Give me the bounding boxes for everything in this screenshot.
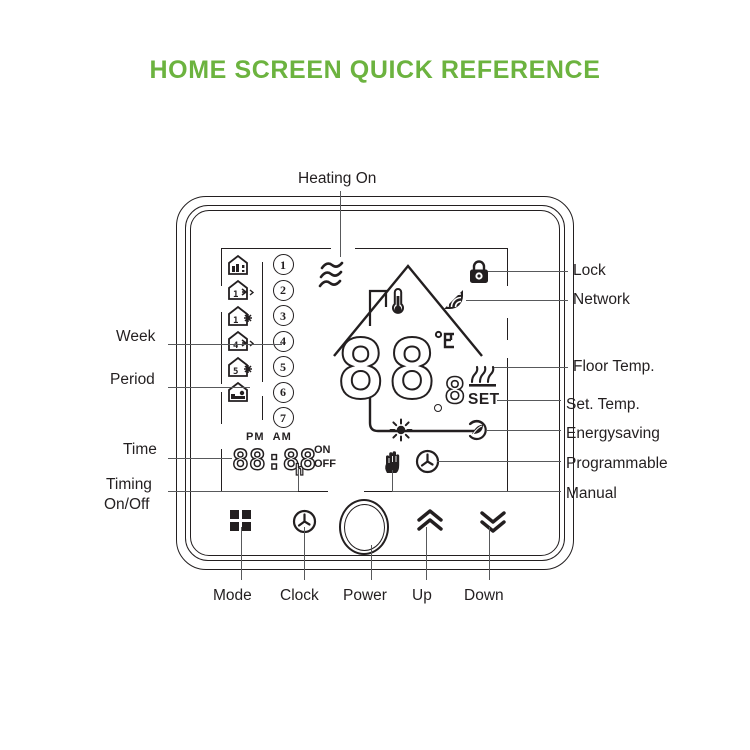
temperature-decimal-point	[434, 404, 442, 412]
week-number-item: 1	[268, 252, 298, 278]
hour-unit-label: h	[295, 461, 304, 479]
callout-line-timing	[168, 491, 298, 492]
callout-label-timing-1: Timing	[106, 476, 152, 494]
button-row	[176, 497, 572, 555]
meridiem-indicators: PM AM	[246, 431, 292, 443]
week-number-7: 7	[273, 407, 294, 428]
svg-text:1: 1	[233, 290, 238, 300]
callout-line-clock	[304, 527, 305, 580]
callout-line-manual-v	[392, 470, 393, 492]
callout-line-week	[168, 344, 282, 345]
period-bracket-lower	[262, 396, 263, 420]
period-bracket	[262, 262, 263, 382]
week-number-1: 1	[273, 254, 294, 275]
callout-label-heating-on: Heating On	[298, 170, 376, 188]
callout-line-down	[489, 527, 490, 580]
lcd-bracket-left-mid	[221, 312, 222, 384]
week-number-item: 4	[268, 329, 298, 355]
week-number-6: 6	[273, 382, 294, 403]
week-number-column: 1 2 3 4 5 6 7	[268, 252, 298, 431]
period-icon-1	[226, 252, 260, 278]
up-button[interactable]	[416, 508, 444, 534]
page-title: HOME SCREEN QUICK REFERENCE	[0, 56, 750, 85]
lcd-bracket-left-bottom	[221, 449, 222, 491]
svg-text:5: 5	[233, 367, 238, 377]
callout-label-network: Network	[573, 291, 630, 309]
set-temp-label: SET	[468, 391, 500, 409]
lcd-bracket-right-mid2	[507, 358, 508, 492]
week-number-3: 3	[273, 305, 294, 326]
week-number-item: 3	[268, 303, 298, 329]
button-label-mode: Mode	[213, 587, 252, 605]
pm-label: PM	[246, 431, 265, 443]
lcd-bracket-right-mid1	[507, 318, 508, 340]
callout-label-programmable: Programmable	[566, 455, 668, 473]
button-label-down: Down	[464, 587, 504, 605]
callout-line-energysaving	[487, 430, 561, 431]
callout-line-up	[426, 527, 427, 580]
period-icon-6-sleep	[226, 380, 260, 406]
lcd-bracket-right-upper	[507, 248, 508, 286]
power-button[interactable]	[339, 499, 389, 555]
floor-heating-icon	[467, 366, 497, 390]
callout-line-mode	[241, 527, 242, 580]
callout-line-power	[371, 545, 372, 580]
svg-text:4: 4	[233, 341, 239, 351]
callout-line-heating-on	[340, 191, 341, 257]
snowflake-icon	[389, 418, 413, 442]
callout-label-set-temp: Set. Temp.	[566, 396, 640, 414]
callout-line-period	[168, 387, 250, 388]
temperature-decimal-digit: 8	[444, 375, 466, 409]
callout-label-energysaving: Energysaving	[566, 425, 660, 443]
callout-line-time	[168, 458, 232, 459]
temperature-digits: 88	[336, 333, 439, 409]
period-icon-3: 1	[226, 303, 260, 329]
week-number-item: 5	[268, 354, 298, 380]
callout-line-set-temp	[497, 400, 561, 401]
timer-on-label: ON	[314, 443, 336, 457]
wifi-signal-icon	[442, 288, 468, 312]
padlock-icon	[467, 260, 491, 285]
week-number-item: 7	[268, 405, 298, 431]
period-icon-5: 5	[226, 354, 260, 380]
period-icon-2: 1	[226, 278, 260, 304]
callout-label-floor-temp: Floor Temp.	[573, 358, 655, 376]
button-label-up: Up	[412, 587, 432, 605]
am-label: AM	[273, 431, 292, 443]
callout-line-manual	[392, 491, 561, 492]
timer-off-label: OFF	[314, 457, 336, 471]
period-icon-column: 1 1 4 5	[226, 252, 260, 405]
down-button[interactable]	[479, 508, 507, 534]
lcd-bracket-left-upper	[221, 248, 222, 286]
timer-onoff-indicator: ON OFF	[314, 443, 336, 471]
lcd-bracket-top-left	[221, 248, 331, 249]
callout-line-floor-temp	[494, 367, 568, 368]
lcd-bracket-left-lower	[221, 392, 222, 424]
button-label-power: Power	[343, 587, 387, 605]
button-label-clock: Clock	[280, 587, 319, 605]
callout-label-timing-2: On/Off	[104, 496, 149, 514]
callout-line-programmable	[437, 461, 561, 462]
week-number-item: 2	[268, 278, 298, 304]
quick-reference-diagram: HOME SCREEN QUICK REFERENCE 1	[0, 0, 750, 750]
thermometer-icon	[390, 287, 406, 317]
callout-line-network	[466, 300, 568, 301]
callout-line-lock	[488, 271, 568, 272]
period-icon-4: 4	[226, 329, 260, 355]
callout-line-timing-v	[298, 468, 299, 491]
week-number-4: 4	[273, 331, 294, 352]
callout-label-period: Period	[110, 371, 155, 389]
week-number-5: 5	[273, 356, 294, 377]
lcd-bracket-top-right	[355, 248, 507, 249]
callout-label-week: Week	[116, 328, 155, 346]
eco-leaf-icon	[465, 418, 489, 442]
week-number-2: 2	[273, 280, 294, 301]
callout-label-lock: Lock	[573, 262, 606, 280]
svg-text:1: 1	[233, 316, 238, 326]
week-number-item: 6	[268, 380, 298, 406]
callout-label-time: Time	[123, 441, 157, 459]
hand-icon	[382, 449, 404, 475]
callout-label-manual: Manual	[566, 485, 617, 503]
